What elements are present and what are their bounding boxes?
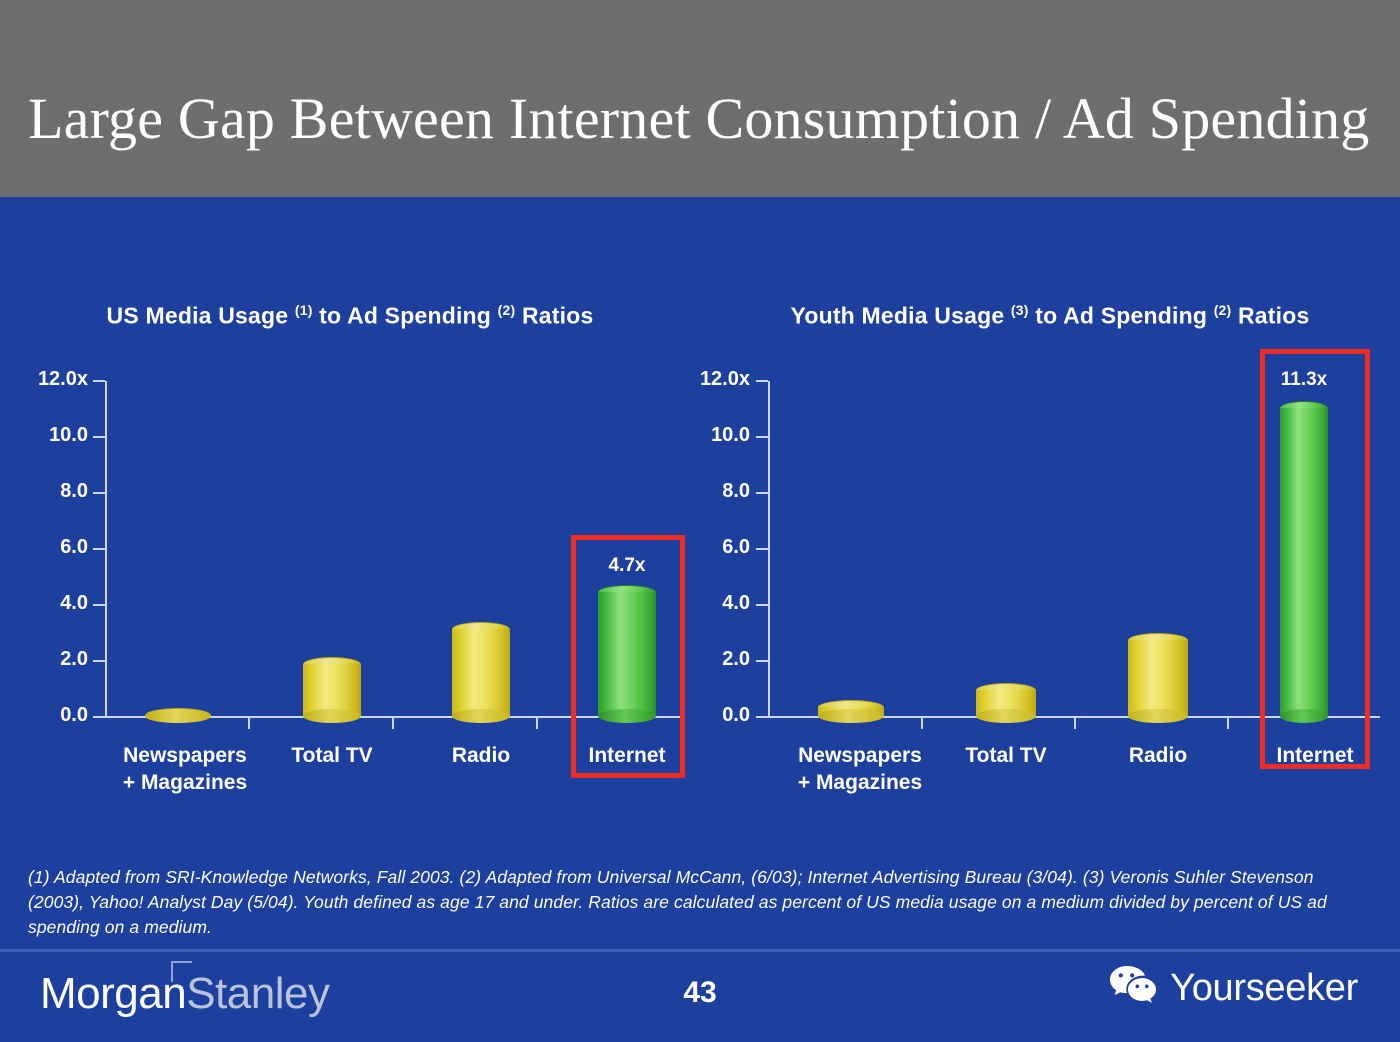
chart-title-segment-2: to Ad Spending — [313, 303, 498, 329]
bar-radio — [452, 622, 510, 716]
bar-total-tv — [303, 657, 361, 716]
y-axis-label-12: 12.0x — [700, 368, 750, 391]
bar-bottom-cap — [976, 709, 1036, 723]
footnote-divider — [0, 949, 1400, 952]
y-axis-label-8: 8.0 — [60, 480, 88, 503]
y-tick-0 — [756, 716, 768, 718]
slide-title: Large Gap Between Internet Consumption /… — [28, 88, 1369, 150]
y-axis-label-6: 6.0 — [722, 536, 750, 559]
chart-title-footnote-ref-2: (2) — [1214, 302, 1232, 318]
y-tick-10 — [756, 436, 768, 438]
chart-panel-youth-media-usage: Youth Media Usage (3) to Ad Spending (2)… — [700, 197, 1400, 817]
yourseeker-watermark: Yourseeker — [1109, 964, 1358, 1011]
category-label-internet: Internet — [1230, 742, 1400, 769]
category-label-line-2: + Magazines — [770, 769, 950, 796]
y-tick-0 — [93, 716, 105, 718]
y-tick-8 — [756, 492, 768, 494]
bar-body — [452, 629, 510, 716]
bar-bottom-cap — [303, 709, 361, 723]
bar-bottom-cap — [818, 709, 884, 723]
chart-title-youth-media-usage: Youth Media Usage (3) to Ad Spending (2)… — [700, 292, 1400, 334]
category-label-radio: Radio — [1073, 742, 1243, 769]
y-tick-2 — [756, 660, 768, 662]
chart-title-footnote-ref-2: (2) — [498, 302, 516, 318]
category-label-radio: Radio — [396, 742, 566, 769]
category-label-total-tv: Total TV — [921, 742, 1091, 769]
y-axis-line — [105, 381, 107, 717]
slide-footer-bar: MorganStanley 43 Yourseeker — [0, 954, 1400, 1042]
x-tick-3 — [536, 718, 538, 729]
x-tick-1 — [921, 718, 923, 729]
bar-body — [1128, 640, 1188, 716]
chart-title-segment-3: Ratios — [1231, 303, 1309, 329]
bar-newspapers-magazines — [145, 708, 211, 716]
x-tick-2 — [1074, 718, 1076, 729]
y-tick-6 — [93, 548, 105, 550]
y-tick-8 — [93, 492, 105, 494]
chart-title-segment-1: US Media Usage — [107, 303, 295, 329]
bar-bottom-cap — [452, 709, 510, 723]
y-axis-label-2: 2.0 — [60, 648, 88, 671]
y-axis-label-6: 6.0 — [60, 536, 88, 559]
y-tick-4 — [93, 604, 105, 606]
y-tick-10 — [93, 436, 105, 438]
bar-bottom-cap — [1128, 709, 1188, 723]
y-axis-label-12: 12.0x — [38, 368, 88, 391]
chart-title-segment-1: Youth Media Usage — [790, 303, 1010, 329]
y-axis-label-0: 0.0 — [60, 704, 88, 727]
y-axis-label-0: 0.0 — [722, 704, 750, 727]
bar-radio — [1128, 633, 1188, 716]
bar-total-tv — [976, 683, 1036, 716]
category-label-total-tv: Total TV — [247, 742, 417, 769]
y-axis-label-4: 4.0 — [60, 592, 88, 615]
yourseeker-label: Yourseeker — [1170, 967, 1358, 1009]
y-tick-12 — [756, 380, 768, 382]
chart-panel-us-media-usage: US Media Usage (1) to Ad Spending (2) Ra… — [0, 197, 700, 817]
plot-area-youth-media-usage: 12.0x 10.0 8.0 6.0 4.0 2.0 0.0 — [700, 357, 1400, 722]
y-tick-2 — [93, 660, 105, 662]
y-axis-label-10: 10.0 — [49, 424, 88, 447]
bar-bottom-cap — [145, 709, 211, 723]
x-tick-3 — [1227, 718, 1229, 729]
plot-area-us-media-usage: 12.0x 10.0 8.0 6.0 4.0 2.0 0.0 — [0, 357, 700, 722]
y-axis-label-8: 8.0 — [722, 480, 750, 503]
category-label-internet: Internet — [542, 742, 712, 769]
x-tick-2 — [392, 718, 394, 729]
y-axis-label-4: 4.0 — [722, 592, 750, 615]
wechat-icon — [1109, 964, 1157, 1011]
y-axis-label-10: 10.0 — [711, 424, 750, 447]
bar-newspapers-magazines — [818, 700, 884, 716]
highlight-box-internet — [1260, 349, 1370, 769]
y-tick-12 — [93, 380, 105, 382]
chart-title-footnote-ref-1: (3) — [1011, 302, 1029, 318]
footnote-text: (1) Adapted from SRI-Knowledge Networks,… — [28, 865, 1373, 940]
y-axis-label-2: 2.0 — [722, 648, 750, 671]
y-tick-6 — [756, 548, 768, 550]
chart-title-footnote-ref-1: (1) — [295, 302, 313, 318]
chart-title-segment-2: to Ad Spending — [1029, 303, 1214, 329]
slide-body: US Media Usage (1) to Ad Spending (2) Ra… — [0, 197, 1400, 1042]
y-axis-line — [768, 381, 770, 717]
category-label-line-2: + Magazines — [95, 769, 275, 796]
chart-title-us-media-usage: US Media Usage (1) to Ad Spending (2) Ra… — [0, 292, 700, 334]
x-tick-1 — [248, 718, 250, 729]
chart-title-segment-3: Ratios — [515, 303, 593, 329]
y-tick-4 — [756, 604, 768, 606]
